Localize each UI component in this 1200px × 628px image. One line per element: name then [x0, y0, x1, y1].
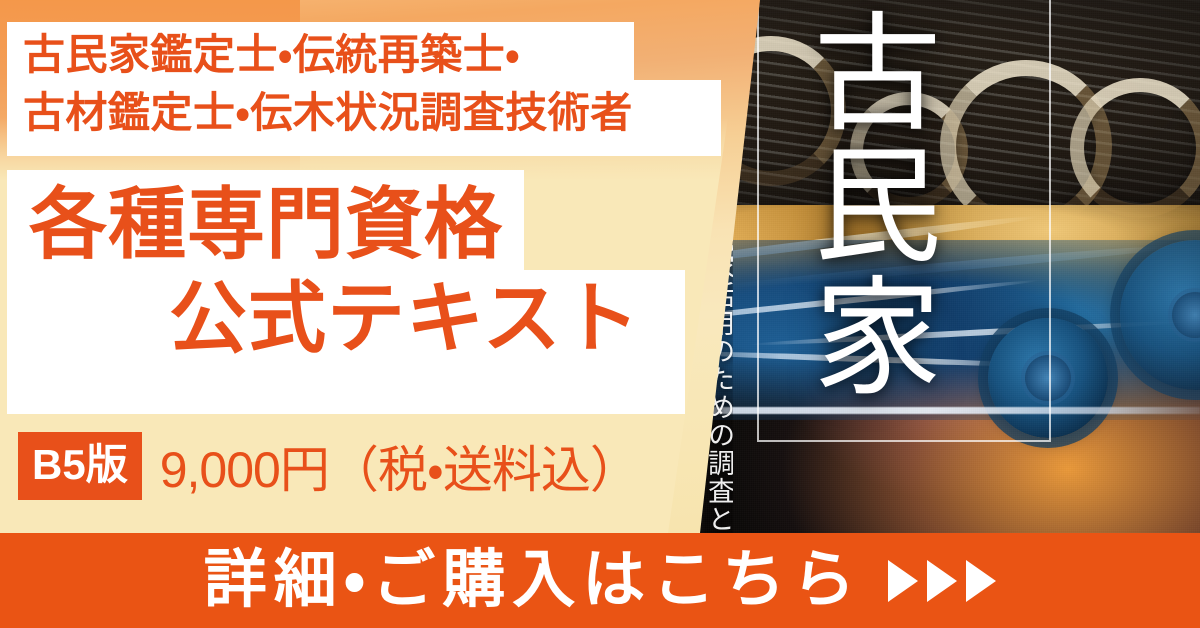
price-row: B5版 9,000円（税・送料込） — [18, 433, 639, 499]
qualifications-text: 古民家鑑定士・伝統再築士・ 古材鑑定士・伝木状況調査技術者 — [23, 26, 633, 142]
promo-banner[interactable]: 古民家 伝統構法 古民家活用のための調査と再生の 古民家鑑定士・伝統再築士・ 古… — [0, 0, 1200, 628]
book-cover-title: 古民家 — [776, 6, 936, 402]
qualifications-line-2: 古材鑑定士・伝木状況調査技術者 — [23, 84, 633, 142]
play-arrow-icon — [966, 560, 996, 602]
cta-label: 詳細・ご購入はこちら — [204, 549, 862, 612]
headline-line-1: 各種専門資格 — [29, 182, 503, 266]
size-badge: B5版 — [18, 432, 142, 500]
headline-line-2: 公式テキスト — [169, 276, 641, 360]
qualifications-panel: 古民家鑑定士・伝統再築士・ 古材鑑定士・伝木状況調査技術者 — [7, 22, 721, 156]
cta-bar[interactable]: 詳細・ご購入はこちら — [0, 533, 1200, 628]
qualifications-line-1: 古民家鑑定士・伝統再築士・ — [23, 26, 633, 84]
play-arrow-icon — [888, 560, 918, 602]
play-arrow-icon — [927, 560, 957, 602]
price-text: 9,000円（税・送料込） — [160, 430, 639, 502]
cta-arrow-group — [888, 560, 996, 602]
